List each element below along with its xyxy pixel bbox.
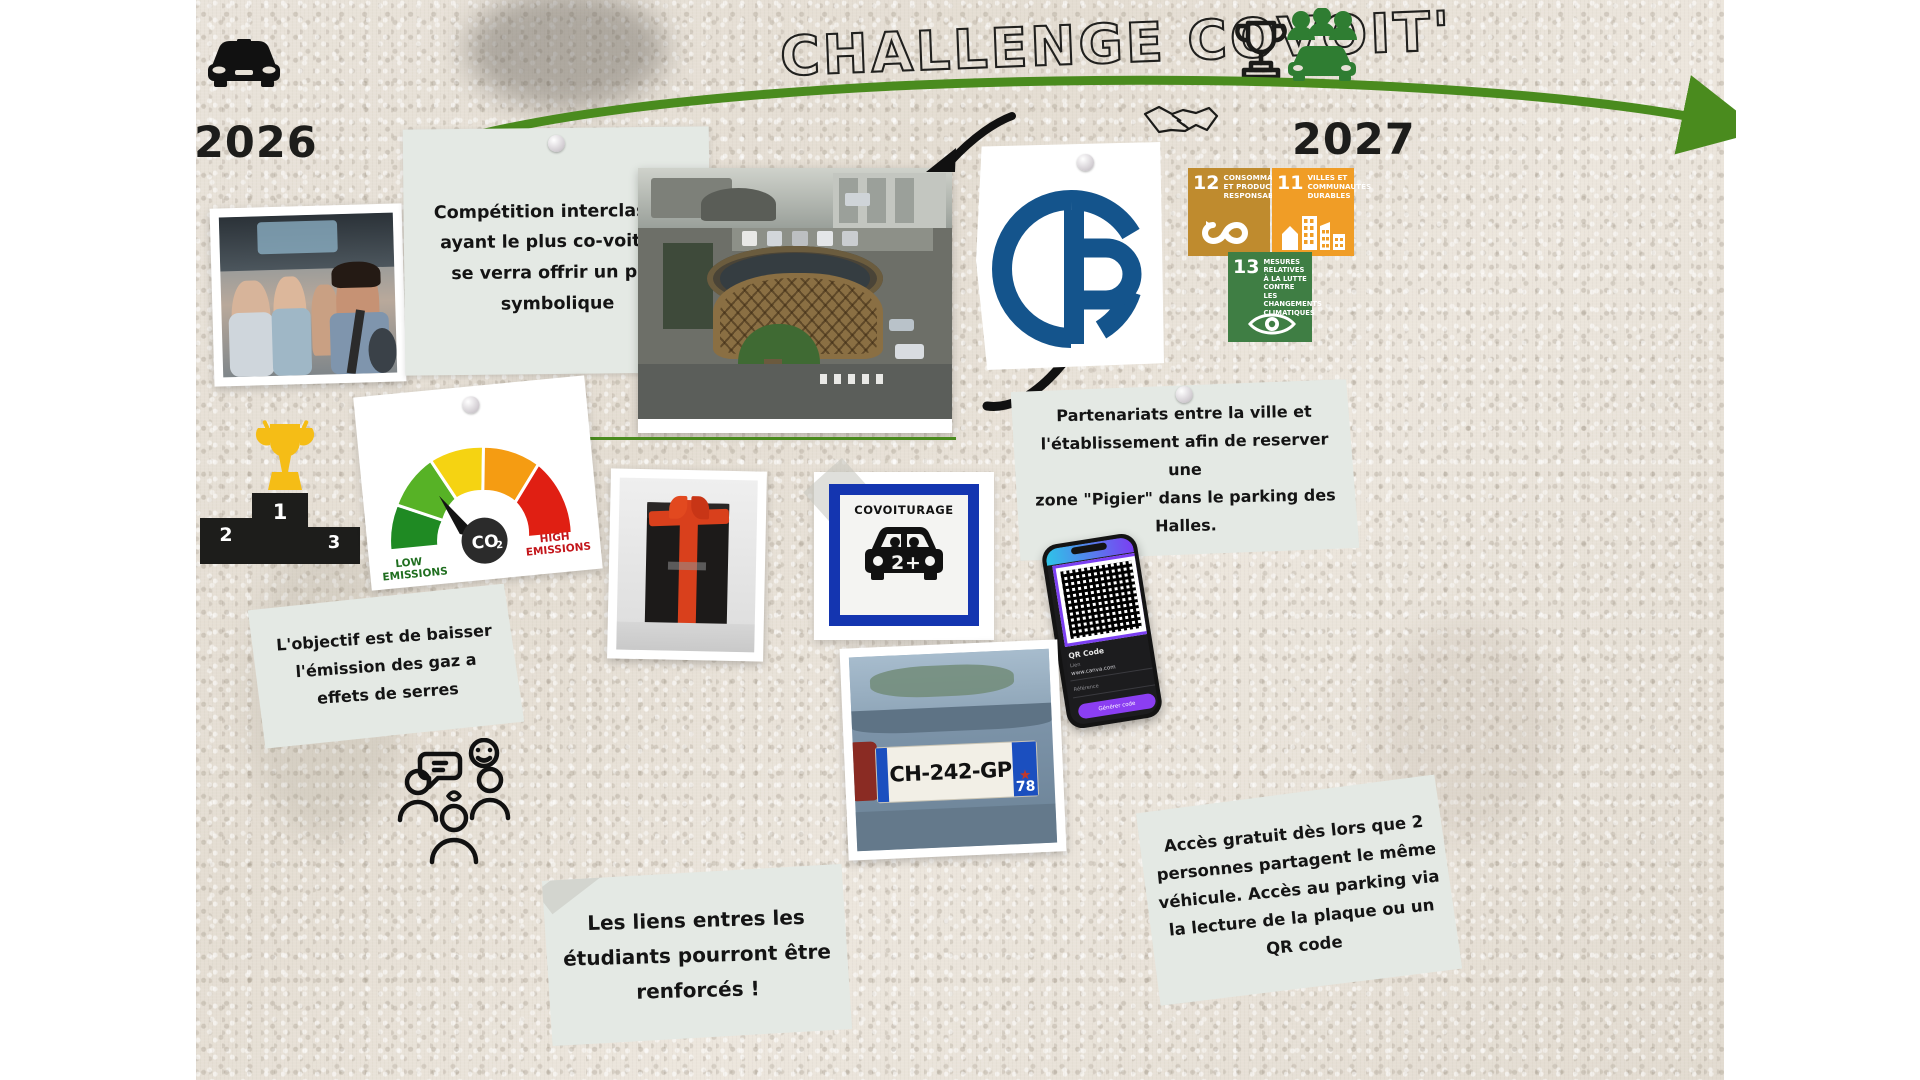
podium-label-1: 1 <box>273 500 288 524</box>
eye-globe-icon <box>1248 311 1296 337</box>
title-outline-text: CHALLENGE COVOIT' <box>775 0 1477 93</box>
handshake-icon <box>1141 98 1221 142</box>
license-plate: CH-242-GP 78 <box>875 741 1039 804</box>
sdg-line: DURABLES <box>1307 192 1371 201</box>
podium-step-second: 2 <box>200 518 252 564</box>
road-sign-plus: + <box>905 552 921 574</box>
note-partenariats: Partenariats entre la ville et l'établis… <box>1010 379 1359 561</box>
sdg-badge-12: 12 CONSOMMATION ET PRODUCTION RESPONSABL… <box>1188 168 1270 256</box>
logo-card <box>976 142 1164 370</box>
sdg-badge-13: 13 MESURES RELATIVES À LA LUTTE CONTRE L… <box>1228 252 1312 342</box>
sdg-number: 11 <box>1277 174 1303 201</box>
group-car-green-icon <box>1279 8 1365 82</box>
push-pin-icon <box>548 135 565 152</box>
podium-step-third: 3 <box>308 527 360 564</box>
page-title: CHALLENGE COVOIT' <box>775 0 1477 93</box>
photo-gift-box <box>607 468 767 661</box>
note-line: renforcés ! <box>564 969 833 1011</box>
license-plate-department: 78 <box>1016 780 1036 795</box>
car-smoke-icon <box>204 30 284 92</box>
infinity-icon <box>1197 217 1253 249</box>
year-end-label: 2027 <box>1292 115 1416 165</box>
podium-label-3: 3 <box>328 532 341 553</box>
carpool-car-icon: 2 + <box>857 521 951 587</box>
co2-gauge: CO 2 LOW EMISSIONS HIGH EMISSIONS <box>356 403 602 584</box>
podium-step-first: 1 <box>252 493 308 564</box>
year-start-label: 2026 <box>194 118 318 168</box>
note-objectif: L'objectif est de baisser l'émission des… <box>247 583 525 749</box>
sdg-line: LES CHANGEMENTS <box>1263 292 1321 309</box>
phone-screen-title: QR Code <box>1068 646 1105 661</box>
photo-aerial-campus <box>638 168 952 433</box>
podium: 2 1 3 <box>200 498 360 564</box>
road-sign-label: COVOITURAGE <box>854 503 954 517</box>
phone-field-label: Lien <box>1070 662 1081 670</box>
road-sign-card: COVOITURAGE <box>814 472 994 640</box>
podium-label-2: 2 <box>219 524 232 546</box>
divider-line <box>572 437 956 440</box>
note-line: Halles. <box>1023 509 1349 543</box>
sdg-line: À LA LUTTE CONTRE <box>1263 275 1321 292</box>
smoke-smudge <box>466 0 666 110</box>
note-line: l'établissement afin de reserver une <box>1021 425 1348 487</box>
phone-generate-button[interactable]: Générer code <box>1077 693 1156 720</box>
note-line: étudiants pourront être <box>563 934 832 976</box>
poster-canvas: CHALLENGE COVOIT' <box>196 0 1724 1080</box>
sdg-line: MESURES RELATIVES <box>1263 258 1321 275</box>
tape-strip <box>535 844 614 914</box>
note-liens: Les liens entres les étudiants pourront … <box>542 864 853 1046</box>
sdg-number: 13 <box>1233 258 1259 317</box>
photo-friends-in-car <box>210 203 407 386</box>
photo-license-plate: CH-242-GP 78 <box>839 639 1066 860</box>
push-pin-icon <box>1077 154 1094 171</box>
phone-field2-label: Référence <box>1073 683 1099 693</box>
co2-center-sub: 2 <box>496 540 504 552</box>
sdg-badge-11: 11 VILLES ET COMMUNAUTÉS DURABLES <box>1272 168 1354 256</box>
sdg-number: 12 <box>1193 174 1219 201</box>
pigier-circle-logo <box>990 188 1152 350</box>
co2-low-label-2: EMISSIONS <box>382 565 448 583</box>
note-acces: Accès gratuit dès lors que 2 personnes p… <box>1135 774 1463 1007</box>
co2-gauge-card: CO 2 LOW EMISSIONS HIGH EMISSIONS <box>353 375 603 590</box>
co2-high-label-2: EMISSIONS <box>525 540 591 558</box>
people-chat-icon <box>396 738 514 868</box>
note-line: zone "Pigier" dans le parking des <box>1022 481 1348 515</box>
road-sign: COVOITURAGE <box>829 484 979 626</box>
road-sign-occupancy: 2 <box>891 552 904 574</box>
qr-code <box>1052 553 1150 647</box>
city-buildings-icon <box>1280 212 1346 252</box>
license-plate-number: CH-242-GP <box>888 758 1014 787</box>
push-pin-icon <box>462 396 481 415</box>
